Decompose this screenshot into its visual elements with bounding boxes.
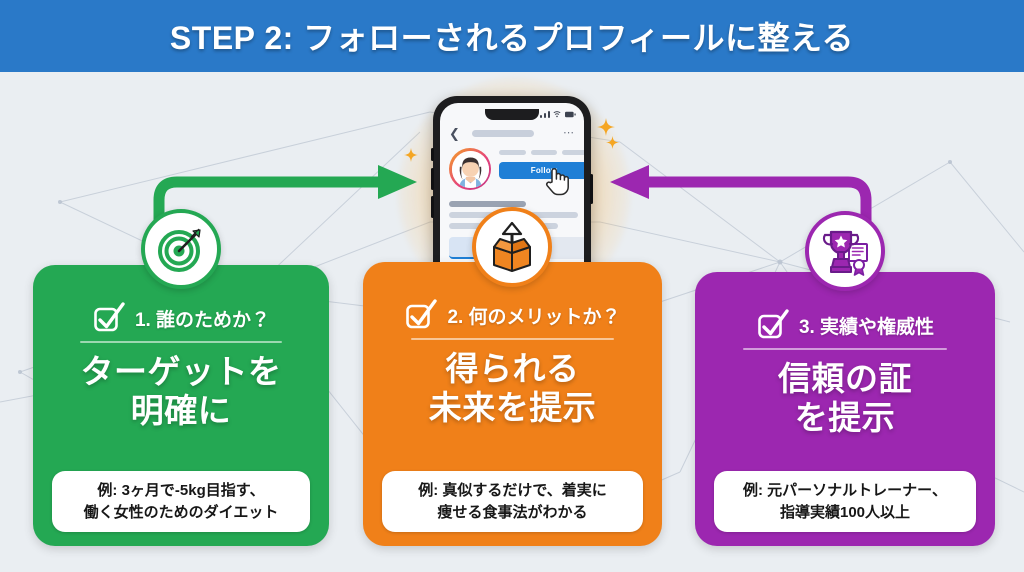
card-example-note: 例: 3ヶ月で-5kg目指す、 働く女性のためのダイエット <box>52 471 310 532</box>
profile-nav-bar: ❮ ⋯ <box>440 123 584 143</box>
profile-name-placeholder <box>472 130 534 137</box>
phone-mute-switch <box>431 148 434 161</box>
card-heading: 2. 何のメリットか？ <box>375 298 650 332</box>
more-horizontal-icon[interactable]: ⋯ <box>563 128 575 139</box>
card-heading: 3. 実績や権威性 <box>707 308 983 342</box>
card-title-line: ターゲットを <box>81 353 282 392</box>
card-title-line: を提示 <box>778 399 912 438</box>
card-benefit[interactable]: 2. 何のメリットか？ 得られる 未来を提示 例: 真似するだけで、着実に 痩せ… <box>363 262 662 546</box>
card-title: ターゲットを 明確に <box>81 353 282 431</box>
note-line: 例: 元パーソナルトレーナー、 <box>724 480 966 501</box>
badge-trophy <box>805 211 885 291</box>
stat-followers <box>531 150 558 155</box>
card-title-line: 明確に <box>81 392 282 431</box>
phone-volume-down-button <box>431 196 434 218</box>
user-avatar-icon <box>452 151 489 188</box>
phone-notch <box>485 109 539 120</box>
stat-placeholders <box>499 150 584 155</box>
profile-stats: Follow <box>499 148 584 190</box>
follow-button[interactable]: Follow <box>499 162 584 179</box>
avatar-image <box>452 151 489 188</box>
badge-target <box>141 209 221 289</box>
target-icon <box>155 223 207 275</box>
card-example-note: 例: 真似するだけで、着実に 痩せる食事法がわかる <box>382 471 643 532</box>
card-label: 1. 誰のためか？ <box>135 305 270 332</box>
infographic-canvas: STEP 2: フォローされるプロフィールに整える <box>0 0 1024 572</box>
sparkle-icon <box>404 148 418 162</box>
heading-divider <box>80 341 281 343</box>
checkbox-checked-icon <box>404 298 438 332</box>
wifi-icon <box>553 110 561 118</box>
status-bar <box>540 110 576 118</box>
card-title: 信頼の証 を提示 <box>778 360 912 438</box>
card-target[interactable]: 1. 誰のためか？ ターゲットを 明確に 例: 3ヶ月で-5kg目指す、 働く女… <box>33 265 329 546</box>
phone-power-button <box>590 174 593 204</box>
phone-volume-up-button <box>431 168 434 190</box>
card-authority[interactable]: 3. 実績や権威性 信頼の証 を提示 例: 元パーソナルトレーナー、 指導実績1… <box>695 272 995 546</box>
card-example-note: 例: 元パーソナルトレーナー、 指導実績100人以上 <box>714 471 976 532</box>
heading-divider <box>743 348 947 350</box>
badge-open-box <box>472 207 552 287</box>
battery-icon <box>565 111 576 118</box>
page-title: STEP 2: フォローされるプロフィールに整える <box>170 13 854 59</box>
stat-following <box>562 150 584 155</box>
sparkle-icon <box>597 118 615 136</box>
note-line: 痩せる食事法がわかる <box>392 502 633 523</box>
avatar[interactable] <box>449 148 491 190</box>
note-line: 例: 3ヶ月で-5kg目指す、 <box>62 480 300 501</box>
stat-posts <box>499 150 526 155</box>
chevron-left-icon[interactable]: ❮ <box>449 127 460 140</box>
sparkle-icon <box>606 136 619 149</box>
trophy-icon <box>819 225 871 277</box>
card-title-line: 未来を提示 <box>429 389 597 428</box>
open-box-icon <box>486 221 538 273</box>
card-title: 得られる 未来を提示 <box>429 350 597 428</box>
card-title-line: 得られる <box>429 350 597 389</box>
card-heading: 1. 誰のためか？ <box>45 301 317 335</box>
checkbox-checked-icon <box>92 301 126 335</box>
checkbox-checked-icon <box>756 308 790 342</box>
header-bar: STEP 2: フォローされるプロフィールに整える <box>0 0 1024 72</box>
heading-divider <box>411 338 615 340</box>
note-line: 指導実績100人以上 <box>724 502 966 523</box>
hand-pointer-icon <box>544 166 570 196</box>
card-label: 3. 実績や権威性 <box>799 312 934 339</box>
card-label: 2. 何のメリットか？ <box>447 302 620 329</box>
note-line: 例: 真似するだけで、着実に <box>392 480 633 501</box>
card-title-line: 信頼の証 <box>778 360 912 399</box>
note-line: 働く女性のためのダイエット <box>62 502 300 523</box>
